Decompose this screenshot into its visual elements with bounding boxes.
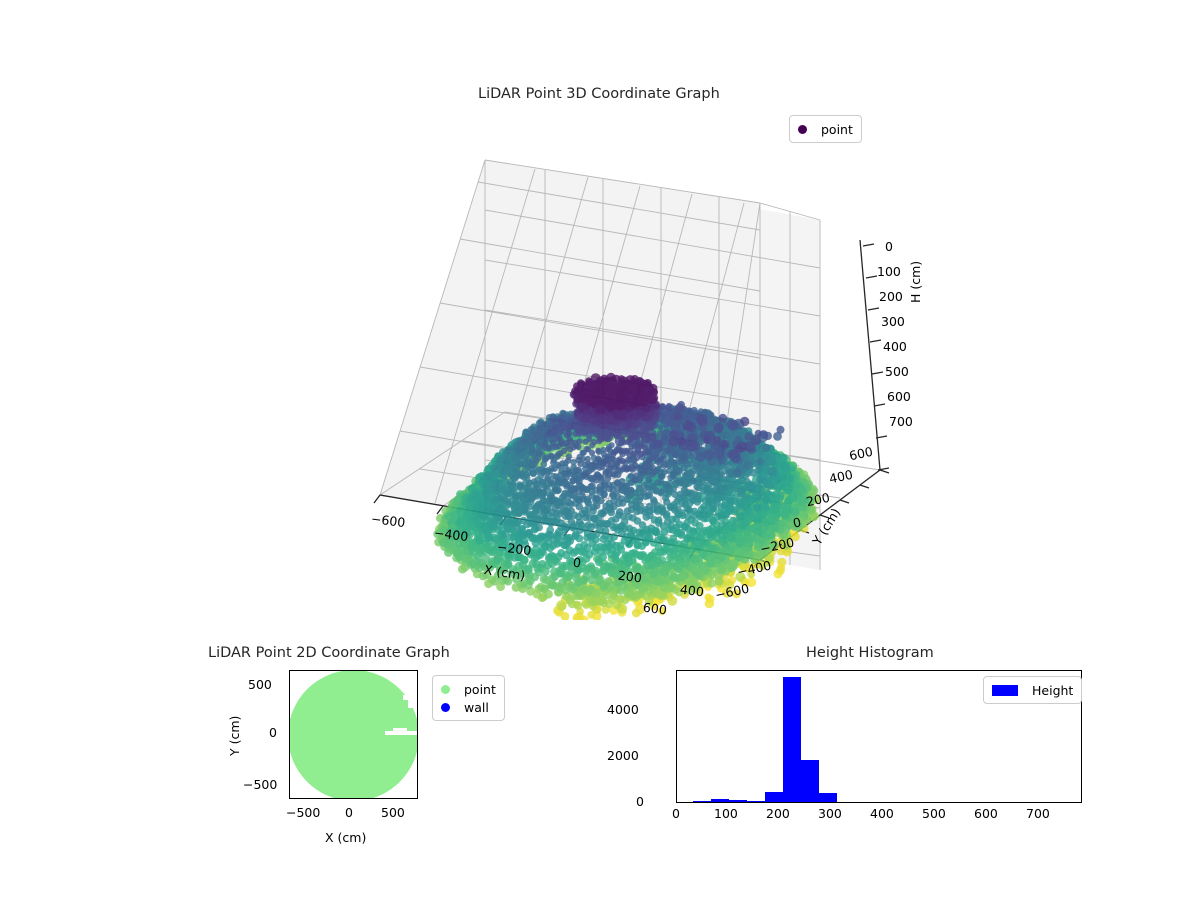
panel-2d-legend[interactable]: point wall: [432, 675, 505, 721]
xh-tick-1: 100: [714, 806, 738, 821]
z-tick-5: 500: [885, 364, 909, 379]
xh-tick-2: 200: [766, 806, 790, 821]
legend-label: Height: [1032, 683, 1073, 698]
disc-notch-upper2: [408, 700, 415, 708]
y2d-tick-0: 500: [248, 677, 272, 692]
disc-notch-mid: [385, 731, 417, 735]
legend-item-wall: wall: [441, 698, 496, 716]
histogram-bar: [819, 793, 837, 802]
y2d-tick-1: 0: [269, 725, 277, 740]
z-tick-0: 0: [885, 239, 893, 254]
z-tick-6: 600: [887, 389, 911, 404]
z-tick-2: 200: [879, 289, 903, 304]
y2d-axis-label: Y (cm): [227, 716, 242, 756]
histogram-bar: [729, 800, 747, 802]
xh-tick-6: 600: [974, 806, 998, 821]
lidar-3d-axes[interactable]: [300, 140, 920, 620]
x2d-axis-label: X (cm): [325, 830, 366, 845]
z-tick-3: 300: [881, 314, 905, 329]
histogram-bar: [693, 801, 711, 802]
axes-3d-panes: [300, 140, 920, 620]
panel-3d-title: LiDAR Point 3D Coordinate Graph: [478, 86, 720, 102]
legend-label: point: [464, 682, 496, 697]
yh-tick-1: 2000: [607, 748, 639, 763]
height-bar-icon: [992, 685, 1018, 696]
histogram-bar: [747, 801, 765, 802]
disc-notch-mid2: [393, 728, 407, 731]
point-marker-icon: [441, 685, 450, 694]
xh-tick-0: 0: [672, 806, 680, 821]
histogram-bar: [765, 792, 783, 803]
wall-marker-icon: [441, 703, 450, 712]
disc-notch-right: [411, 687, 418, 696]
z-tick-4: 400: [883, 339, 907, 354]
xh-tick-7: 700: [1026, 806, 1050, 821]
x-tick-5: 400: [679, 582, 705, 600]
yh-tick-0: 0: [636, 794, 644, 809]
xh-tick-4: 400: [870, 806, 894, 821]
panel-3d-legend[interactable]: point: [789, 115, 862, 143]
x-tick-6: 600: [642, 600, 668, 618]
x2d-tick-2: 500: [381, 805, 405, 820]
legend-item-point: point: [798, 120, 853, 138]
legend-label: point: [821, 122, 853, 137]
figure-canvas: LiDAR Point 3D Coordinate Graph point: [0, 0, 1200, 900]
histogram-bar: [711, 799, 729, 802]
histogram-bar: [783, 677, 801, 802]
xh-tick-3: 300: [818, 806, 842, 821]
xh-tick-5: 500: [922, 806, 946, 821]
z-tick-1: 100: [877, 264, 901, 279]
x2d-tick-1: 0: [345, 805, 353, 820]
z-axis-label: H (cm): [908, 261, 923, 303]
histogram-bar: [801, 760, 819, 802]
panel-hist-title: Height Histogram: [806, 645, 934, 661]
z-tick-7: 700: [889, 414, 913, 429]
panel-hist-legend[interactable]: Height: [983, 676, 1082, 704]
panel-2d-title: LiDAR Point 2D Coordinate Graph: [208, 645, 450, 661]
x-tick-4: 200: [617, 568, 643, 586]
legend-item-point: point: [441, 680, 496, 698]
y2d-tick-2: −500: [243, 777, 277, 792]
legend-item-height: Height: [992, 681, 1073, 699]
point-marker-icon: [798, 125, 807, 134]
lidar-2d-axes[interactable]: [289, 670, 418, 799]
x2d-tick-0: −500: [286, 805, 320, 820]
yh-tick-2: 4000: [607, 702, 639, 717]
legend-label: wall: [464, 700, 489, 715]
